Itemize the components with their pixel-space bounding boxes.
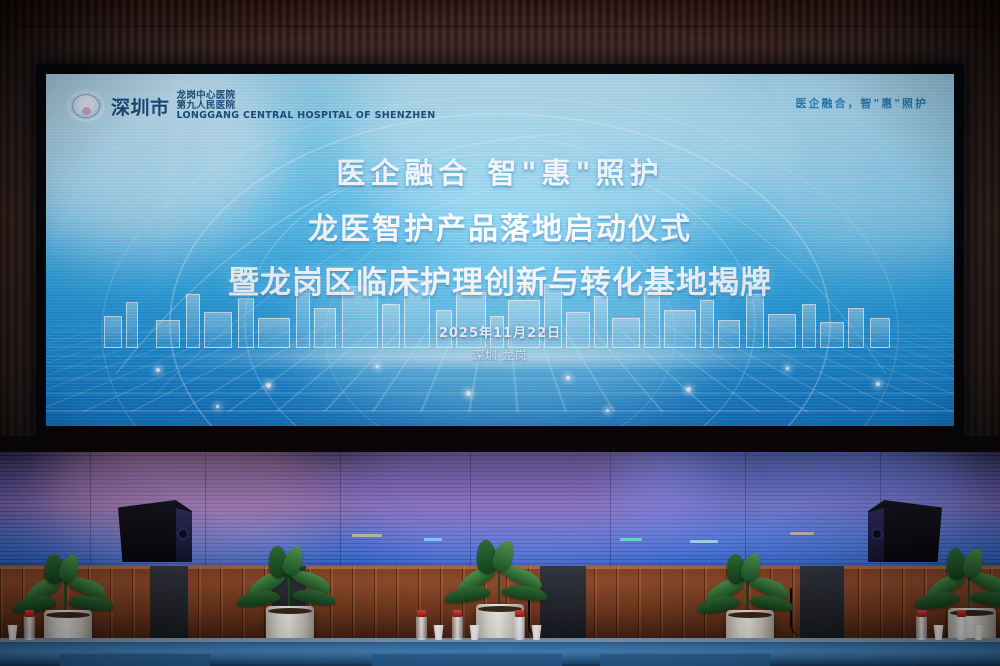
bottle-cap	[25, 610, 34, 617]
water-bottle	[956, 616, 967, 640]
event-meta: 2025年11月22日 深圳·龙岗	[46, 322, 954, 363]
floor-tape-mark	[790, 532, 814, 535]
conference-hall-photo: 深圳市 龙岗中心医院 第九人民医院 LONGGANG CENTRAL HOSPI…	[0, 0, 1000, 666]
speaker-connector	[873, 530, 881, 538]
bottle-cap	[417, 610, 426, 617]
speaker-connector	[179, 530, 187, 538]
logo-english-text: LONGGANG CENTRAL HOSPITAL OF SHENZHEN	[177, 111, 436, 121]
event-title-block: 医企融合 智"惠"照护 龙医智护产品落地启动仪式 暨龙岗区临床护理创新与转化基地…	[46, 150, 954, 363]
floor-tape-mark	[690, 540, 718, 543]
bottle-cap	[917, 610, 926, 617]
title-line-2: 龙医智护产品落地启动仪式	[46, 204, 954, 248]
stage-recess	[150, 566, 188, 638]
title-line-1: 医企融合 智"惠"照护	[46, 150, 954, 192]
corner-slogan: 医企融合，智"惠"照护	[796, 95, 928, 111]
stage-monitor-speaker-left	[118, 500, 192, 562]
table-skirt	[600, 654, 770, 666]
bottle-cap	[515, 610, 524, 617]
bottle-cap	[957, 610, 966, 617]
bottle-cap	[453, 610, 462, 617]
wall-seam	[0, 26, 1000, 27]
floor-tape-mark	[620, 538, 642, 541]
floor-tape-mark	[424, 538, 442, 541]
led-screen: 深圳市 龙岗中心医院 第九人民医院 LONGGANG CENTRAL HOSPI…	[46, 74, 954, 426]
logo-hospital-names: 龙岗中心医院 第九人民医院 LONGGANG CENTRAL HOSPITAL …	[177, 91, 436, 121]
water-bottle	[416, 616, 427, 640]
table-edge	[0, 638, 1000, 642]
hospital-logo: 深圳市 龙岗中心医院 第九人民医院 LONGGANG CENTRAL HOSPI…	[68, 91, 436, 121]
water-bottle	[452, 616, 463, 640]
table-skirt	[60, 654, 210, 666]
floor-tape-mark	[352, 534, 382, 537]
water-bottle	[24, 616, 35, 640]
table-skirt	[372, 654, 562, 666]
logo-city-text: 深圳市	[111, 93, 170, 120]
title-line-3: 暨龙岗区临床护理创新与转化基地揭牌	[46, 257, 954, 302]
logo-line-2: 第九人民医院	[177, 101, 436, 111]
emblem-ring	[72, 94, 100, 118]
stage-monitor-speaker-right	[868, 500, 942, 562]
water-bottle	[916, 616, 927, 640]
water-bottle	[514, 616, 525, 640]
event-date: 2025年11月22日	[46, 322, 954, 341]
event-location: 深圳·龙岗	[46, 347, 954, 363]
hospital-emblem-icon	[68, 91, 104, 121]
